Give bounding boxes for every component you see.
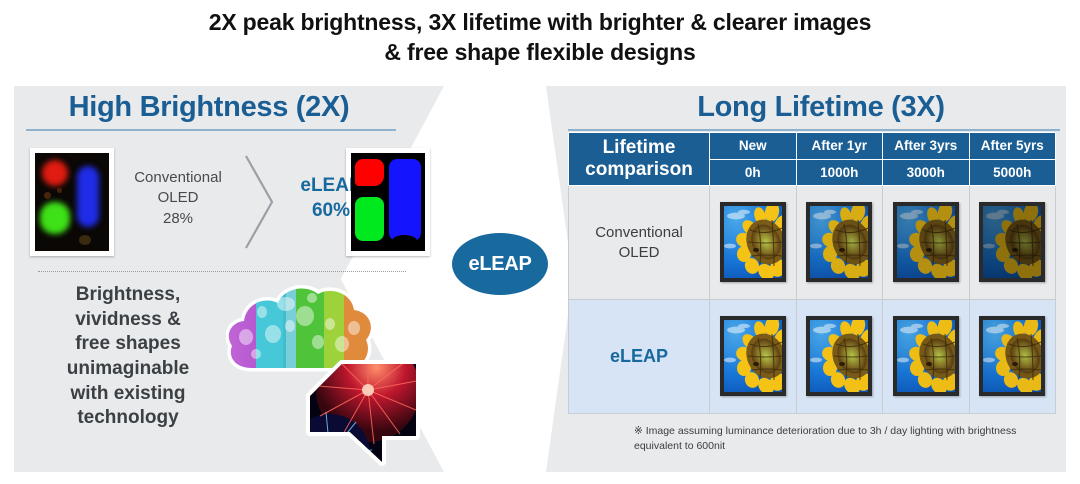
image-cell: [969, 186, 1056, 300]
statement-line-5: technology: [28, 406, 228, 431]
page-title-line-2: & free shape flexible designs: [0, 38, 1080, 68]
eleap-center-badge-label: eLEAP: [469, 253, 532, 276]
table-corner-label-line-1: Lifetime: [569, 137, 709, 159]
sunflower-photo: [893, 316, 959, 396]
row-label: eLEAP: [569, 300, 710, 414]
row-label-line-1: eLEAP: [569, 345, 709, 368]
statement-line-3: unimaginable: [28, 357, 228, 382]
sunflower-photo: [893, 202, 959, 282]
column-hours-after-1yr: 1000h: [796, 159, 883, 186]
page-title-line-1: 2X peak brightness, 3X lifetime with bri…: [209, 9, 872, 35]
sunflower-photo: [806, 202, 872, 282]
sunflower-photo: [806, 316, 872, 396]
brightness-statement: Brightness, vividness & free shapes unim…: [28, 283, 228, 431]
conventional-oled-pixel-image: [30, 148, 114, 256]
conventional-oled-value: 28%: [118, 209, 238, 229]
statement-line-2: free shapes: [28, 332, 228, 357]
lifetime-comparison-table: Lifetime comparison New After 1yr After …: [568, 132, 1056, 414]
table-footnote: ※ Image assuming luminance deterioration…: [634, 424, 1034, 454]
image-cell: [796, 300, 883, 414]
conventional-oled-label: Conventional OLED 28%: [118, 168, 238, 229]
brightness-comparison: Conventional OLED 28% eLEAP 60%: [30, 142, 430, 262]
row-label-line-2: OLED: [569, 243, 709, 263]
column-header-after-5yrs: After 5yrs: [969, 133, 1056, 160]
long-lifetime-panel: Long Lifetime (3X) Lifetime comparison N…: [546, 86, 1066, 472]
comparison-middle: Conventional OLED 28% eLEAP 60%: [114, 148, 346, 256]
chevron-right-icon: [242, 154, 276, 250]
right-panel-heading: Long Lifetime (3X): [546, 86, 1066, 129]
table-header-row-1: Lifetime comparison New After 1yr After …: [569, 133, 1056, 160]
statement-line-1: vividness &: [28, 308, 228, 333]
column-header-after-1yr: After 1yr: [796, 133, 883, 160]
column-header-after-3yrs: After 3yrs: [883, 133, 970, 160]
left-panel-heading: High Brightness (2X): [14, 86, 444, 129]
right-panel-heading-rule: [568, 129, 1060, 131]
left-panel-heading-rule: [26, 129, 396, 131]
sunflower-photo: [720, 316, 786, 396]
image-cell: [710, 300, 797, 414]
conventional-oled-name-line-1: Conventional: [118, 168, 238, 188]
table-row: eLEAP: [569, 300, 1056, 414]
eleap-center-badge: eLEAP: [452, 233, 548, 295]
image-cell: [796, 186, 883, 300]
image-cell: [710, 186, 797, 300]
row-label-line-1: Conventional: [569, 223, 709, 243]
sunflower-photo: [720, 202, 786, 282]
arrow-shaped-display: [290, 358, 422, 476]
eleap-pixel-image: [346, 148, 430, 256]
table-row: ConventionalOLED: [569, 186, 1056, 300]
column-hours-after-3yrs: 3000h: [883, 159, 970, 186]
image-cell: [969, 300, 1056, 414]
sunflower-photo: [979, 316, 1045, 396]
conventional-oled-name-line-2: OLED: [118, 188, 238, 208]
high-brightness-panel: High Brightness (2X) Conventional OLED 2…: [14, 86, 444, 472]
sunflower-photo: [979, 202, 1045, 282]
left-panel-divider: [38, 271, 406, 272]
image-cell: [883, 300, 970, 414]
page-title: 2X peak brightness, 3X lifetime with bri…: [0, 8, 1080, 68]
column-hours-new: 0h: [710, 159, 797, 186]
table-corner-label-line-2: comparison: [569, 159, 709, 181]
column-header-new: New: [710, 133, 797, 160]
table-corner-label: Lifetime comparison: [569, 133, 710, 186]
image-cell: [883, 186, 970, 300]
column-hours-after-5yrs: 5000h: [969, 159, 1056, 186]
statement-line-4: with existing: [28, 382, 228, 407]
statement-line-0: Brightness,: [28, 283, 228, 308]
row-label: ConventionalOLED: [569, 186, 710, 300]
